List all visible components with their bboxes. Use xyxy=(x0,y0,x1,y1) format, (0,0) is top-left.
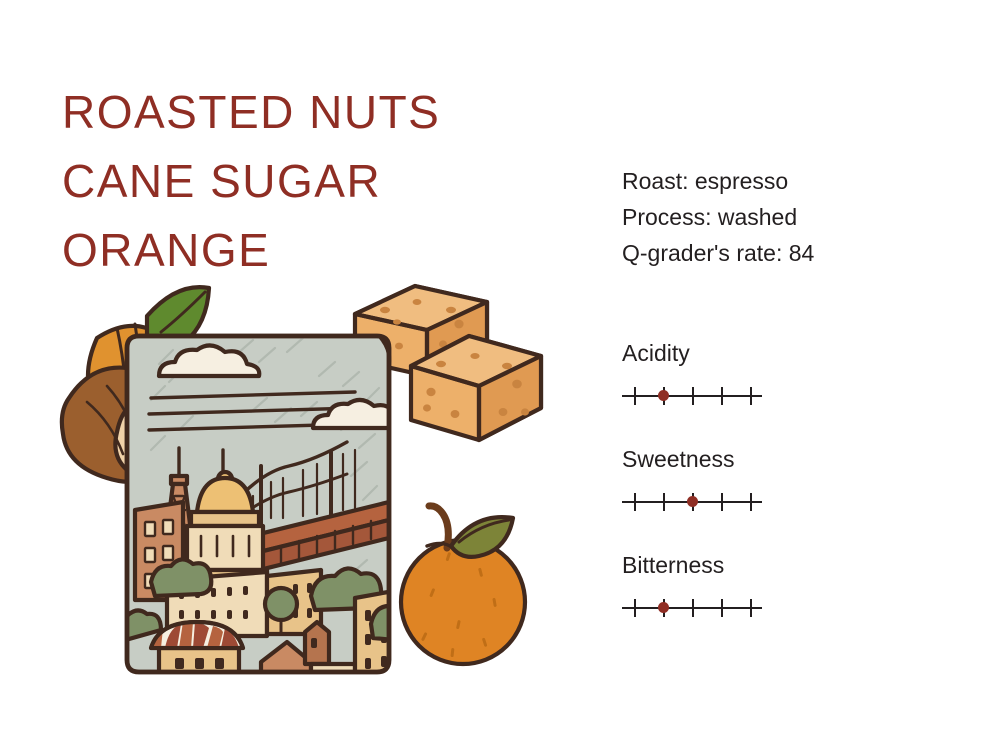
tree-icon xyxy=(233,685,293,700)
scale-acidity: Acidity xyxy=(622,338,962,408)
coffee-bag xyxy=(107,336,413,700)
scale-label-bitterness: Bitterness xyxy=(622,550,962,580)
scale-label-sweetness: Sweetness xyxy=(622,444,962,474)
scale-tick xyxy=(721,493,723,511)
spec-process: Process: washed xyxy=(622,199,962,235)
cityscape-building xyxy=(305,622,329,664)
spec-roast: Roast: espresso xyxy=(622,163,962,199)
scale-tick xyxy=(692,387,694,405)
flavor-line-1: ROASTED NUTS xyxy=(62,78,582,147)
scale-tick xyxy=(750,493,752,511)
orange-fruit-icon xyxy=(401,506,525,664)
cityscape-building xyxy=(129,674,173,700)
cityscape-building xyxy=(343,684,385,700)
flavor-title-block: ROASTED NUTS CANE SUGAR ORANGE xyxy=(62,78,582,285)
spec-qgrader-rate: Q-grader's rate: 84 xyxy=(622,235,962,271)
scale-sweetness: Sweetness xyxy=(622,444,962,514)
scale-tick xyxy=(750,599,752,617)
flavor-line-3: ORANGE xyxy=(62,216,582,285)
scale-tick xyxy=(721,599,723,617)
plant-sprig-icon xyxy=(309,680,365,700)
scale-track-bitterness[interactable] xyxy=(622,596,762,620)
scale-label-acidity: Acidity xyxy=(622,338,962,368)
cityscape-building xyxy=(311,664,355,700)
scale-track-acidity[interactable] xyxy=(622,384,762,408)
scale-tick xyxy=(634,599,636,617)
taste-scales-block: Acidity Sweetness Bitterness xyxy=(622,338,962,656)
coffee-spec-list: Roast: espresso Process: washed Q-grader… xyxy=(622,163,962,271)
scale-tick xyxy=(634,493,636,511)
scale-value-marker[interactable] xyxy=(658,602,669,613)
scale-tick xyxy=(634,387,636,405)
scale-tick xyxy=(750,387,752,405)
cityscape-building xyxy=(183,694,261,700)
scale-bitterness: Bitterness xyxy=(622,550,962,620)
coffee-bag-cityscape-illustration xyxy=(55,280,555,700)
scale-tick xyxy=(692,599,694,617)
striped-awning-building xyxy=(151,622,243,694)
scale-tick xyxy=(663,493,665,511)
scale-tick xyxy=(721,387,723,405)
scale-track-sweetness[interactable] xyxy=(622,490,762,514)
flavor-line-2: CANE SUGAR xyxy=(62,147,582,216)
scale-value-marker[interactable] xyxy=(658,390,669,401)
scale-value-marker[interactable] xyxy=(687,496,698,507)
